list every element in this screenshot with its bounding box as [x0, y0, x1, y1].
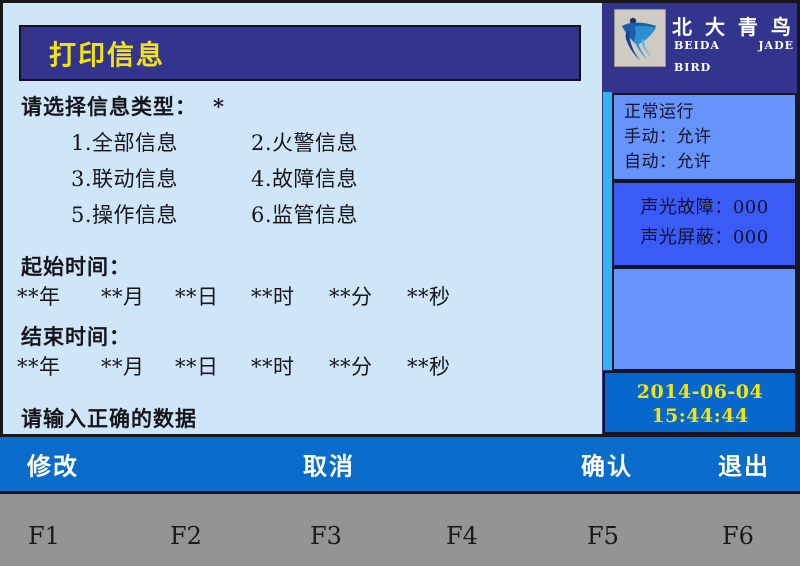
brand-name-en-line1: BEIDA JADE [674, 39, 794, 52]
info-type-prompt: 请选择信息类型：* [21, 91, 602, 121]
softkey-modify[interactable]: 修改 [27, 447, 79, 482]
end-time-second-field[interactable]: **秒 [407, 351, 477, 381]
info-type-option-5[interactable]: 5.操作信息 [71, 199, 251, 229]
softkey-bar: 修改 取消 确认 退出 [0, 437, 800, 494]
brand-name-en-line2: BIRD [674, 61, 711, 74]
current-time: 15:44:44 [605, 404, 795, 428]
end-time-year-field[interactable]: **年 [17, 351, 101, 381]
info-type-option-4[interactable]: 4.故障信息 [251, 163, 358, 193]
alarm-counts-panel: 声光故障：000 声光屏蔽：000 [612, 181, 797, 267]
brand-name-cn: 北 大 青 鸟 [672, 11, 794, 40]
brand-block: 北 大 青 鸟 BEIDA JADE BIRD [602, 3, 797, 92]
softkey-cancel[interactable]: 取消 [303, 447, 355, 482]
page-title-bar: 打印信息 [19, 25, 581, 81]
required-mark: * [213, 94, 225, 119]
datetime-panel: 2014-06-04 15:44:44 [603, 371, 797, 434]
sound-light-shield-row: 声光屏蔽：000 [614, 223, 795, 253]
end-time-minute-field[interactable]: **分 [329, 351, 407, 381]
sound-light-fault-label: 声光故障： [640, 197, 733, 218]
start-time-hour-field[interactable]: **时 [251, 281, 329, 311]
empty-info-panel [612, 267, 797, 371]
brand-name-en-jade: JADE [758, 39, 794, 52]
start-time-month-field[interactable]: **月 [101, 281, 175, 311]
function-key-f3[interactable]: F3 [310, 522, 342, 550]
sound-light-fault-row: 声光故障：000 [614, 193, 795, 223]
end-time-day-field[interactable]: **日 [175, 351, 251, 381]
info-type-option-row-1: 1.全部信息2.火警信息 [71, 127, 602, 157]
current-date: 2014-06-04 [605, 380, 795, 404]
function-key-f6[interactable]: F6 [722, 522, 754, 550]
sound-light-shield-label: 声光屏蔽： [640, 227, 733, 248]
device-screen: 打印信息 请选择信息类型：* 1.全部信息2.火警信息 3.联动信息4.故障信息… [0, 0, 800, 566]
end-time-month-field[interactable]: **月 [101, 351, 175, 381]
start-time-fields: **年**月**日**时**分**秒 [17, 281, 602, 311]
softkey-confirm[interactable]: 确认 [581, 447, 633, 482]
info-type-prompt-label: 请选择信息类型： [21, 94, 197, 119]
info-type-option-row-2: 3.联动信息4.故障信息 [71, 163, 602, 193]
page-title: 打印信息 [49, 34, 165, 73]
main-content-area: 打印信息 请选择信息类型：* 1.全部信息2.火警信息 3.联动信息4.故障信息… [0, 0, 602, 437]
jade-bird-logo-icon [614, 9, 666, 67]
sound-light-fault-value: 000 [733, 197, 769, 218]
info-type-option-row-3: 5.操作信息6.监管信息 [71, 199, 602, 229]
info-type-option-3[interactable]: 3.联动信息 [71, 163, 251, 193]
brand-name-en-beida: BEIDA [674, 39, 720, 52]
info-type-option-2[interactable]: 2.火警信息 [251, 127, 358, 157]
softkey-exit[interactable]: 退出 [718, 447, 770, 482]
start-time-second-field[interactable]: **秒 [407, 281, 477, 311]
sound-light-shield-value: 000 [733, 227, 769, 248]
function-key-f5[interactable]: F5 [587, 522, 619, 550]
function-key-f4[interactable]: F4 [446, 522, 478, 550]
sidebar-rail [603, 92, 612, 370]
end-time-fields: **年**月**日**时**分**秒 [17, 351, 602, 381]
function-key-f2[interactable]: F2 [170, 522, 202, 550]
status-message: 请输入正确的数据 [21, 403, 602, 433]
info-type-option-6[interactable]: 6.监管信息 [251, 199, 358, 229]
system-status-line-2: 手动：允许 [624, 125, 795, 150]
function-key-bar: F1 F2 F3 F4 F5 F6 [0, 494, 800, 566]
system-status-line-3: 自动：允许 [624, 150, 795, 175]
end-time-hour-field[interactable]: **时 [251, 351, 329, 381]
start-time-day-field[interactable]: **日 [175, 281, 251, 311]
start-time-minute-field[interactable]: **分 [329, 281, 407, 311]
function-key-f1[interactable]: F1 [28, 522, 60, 550]
start-time-label: 起始时间： [21, 251, 602, 281]
start-time-year-field[interactable]: **年 [17, 281, 101, 311]
right-sidebar: 北 大 青 鸟 BEIDA JADE BIRD 正常运行 手动：允许 自动：允许… [602, 0, 800, 437]
system-status-line-1: 正常运行 [624, 100, 795, 125]
form-content: 请选择信息类型：* 1.全部信息2.火警信息 3.联动信息4.故障信息 5.操作… [3, 91, 602, 433]
info-type-option-1[interactable]: 1.全部信息 [71, 127, 251, 157]
system-status-panel: 正常运行 手动：允许 自动：允许 [612, 93, 797, 181]
end-time-label: 结束时间： [21, 321, 602, 351]
